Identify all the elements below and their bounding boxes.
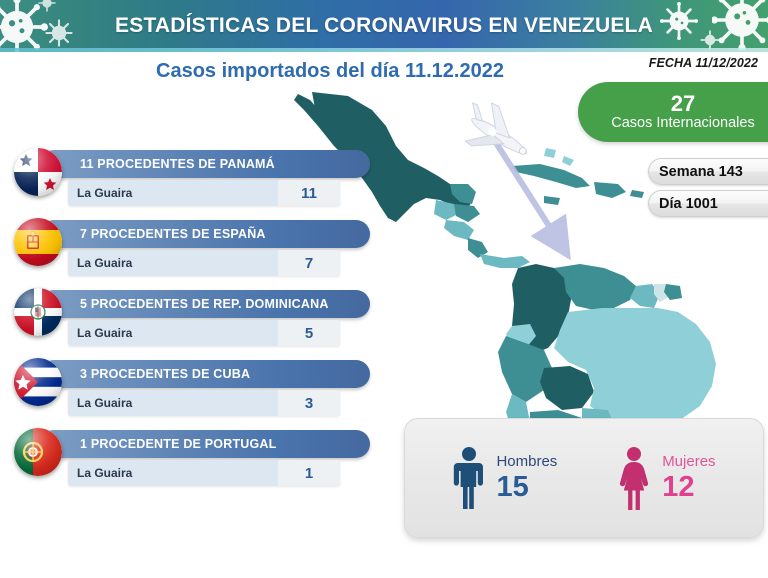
female-figure-icon bbox=[616, 446, 652, 510]
cuba-flag-icon bbox=[14, 358, 62, 406]
semana-badge: Semana 143 bbox=[648, 158, 768, 185]
gender-stat-women: Mujeres 12 bbox=[616, 446, 715, 510]
dominican-republic-flag-icon bbox=[14, 288, 62, 336]
women-value: 12 bbox=[662, 472, 715, 502]
country-block-portugal: 1 PROCEDENTE DE PORTUGAL La Guaira 1 bbox=[10, 424, 370, 492]
country-title-bar: 1 PROCEDENTE DE PORTUGAL bbox=[40, 430, 370, 458]
location-label: La Guaira bbox=[68, 256, 278, 270]
male-figure-icon bbox=[452, 446, 486, 510]
fecha-label: FECHA 11/12/2022 bbox=[649, 56, 758, 70]
location-count: 3 bbox=[278, 390, 340, 416]
subtitle: Casos importados del día 11.12.2022 bbox=[110, 57, 550, 85]
men-label: Hombres bbox=[496, 454, 557, 470]
panama-flag-icon bbox=[14, 148, 62, 196]
men-value: 15 bbox=[496, 472, 557, 502]
country-block-panama: 11 PROCEDENTES DE PANAMÁ La Guaira 11 bbox=[10, 144, 370, 212]
international-count: 27 bbox=[671, 92, 695, 115]
gender-stats-panel: Hombres 15 Mujeres 12 bbox=[404, 418, 764, 538]
location-label: La Guaira bbox=[68, 466, 278, 480]
country-block-cuba: 3 PROCEDENTES DE CUBA La Guaira 3 bbox=[10, 354, 370, 422]
location-count: 11 bbox=[278, 180, 340, 206]
gender-stat-men: Hombres 15 bbox=[452, 446, 557, 510]
country-data-row: La Guaira 7 bbox=[68, 250, 340, 276]
country-title-bar: 7 PROCEDENTES DE ESPAÑA bbox=[40, 220, 370, 248]
country-data-row: La Guaira 1 bbox=[68, 460, 340, 486]
country-data-row: La Guaira 11 bbox=[68, 180, 340, 206]
international-cases-box: 27 Casos Internacionales bbox=[578, 82, 768, 142]
country-data-row: La Guaira 5 bbox=[68, 320, 340, 346]
country-title-bar: 5 PROCEDENTES DE REP. DOMINICANA bbox=[40, 290, 370, 318]
page-title: ESTADÍSTICAS DEL CORONAVIRUS EN VENEZUEL… bbox=[0, 0, 768, 52]
location-count: 7 bbox=[278, 250, 340, 276]
infographic-root: ESTADÍSTICAS DEL CORONAVIRUS EN VENEZUEL… bbox=[0, 0, 768, 578]
country-title-bar: 11 PROCEDENTES DE PANAMÁ bbox=[40, 150, 370, 178]
portugal-flag-icon bbox=[14, 428, 62, 476]
location-count: 5 bbox=[278, 320, 340, 346]
country-title-bar: 3 PROCEDENTES DE CUBA bbox=[40, 360, 370, 388]
country-block-republica-dominicana: 5 PROCEDENTES DE REP. DOMINICANA La Guai… bbox=[10, 284, 370, 352]
location-count: 1 bbox=[278, 460, 340, 486]
airplane-icon bbox=[453, 94, 539, 173]
location-label: La Guaira bbox=[68, 186, 278, 200]
country-data-row: La Guaira 3 bbox=[68, 390, 340, 416]
international-label: Casos Internacionales bbox=[611, 115, 754, 132]
country-block-espana: 7 PROCEDENTES DE ESPAÑA La Guaira 7 bbox=[10, 214, 370, 282]
header-banner: ESTADÍSTICAS DEL CORONAVIRUS EN VENEZUEL… bbox=[0, 0, 768, 52]
header-accent-strip bbox=[0, 48, 768, 52]
spain-flag-icon bbox=[14, 218, 62, 266]
location-label: La Guaira bbox=[68, 326, 278, 340]
dia-badge: Día 1001 bbox=[648, 190, 768, 217]
location-label: La Guaira bbox=[68, 396, 278, 410]
women-label: Mujeres bbox=[662, 454, 715, 470]
